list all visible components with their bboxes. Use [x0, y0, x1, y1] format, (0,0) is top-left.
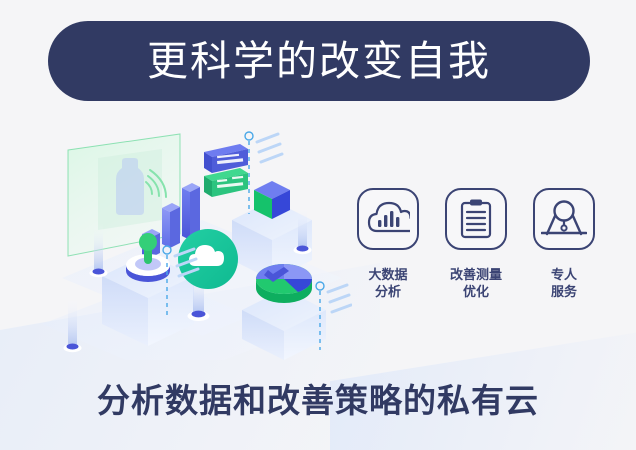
footer-headline: 分析数据和改善策略的私有云: [0, 383, 636, 419]
feature-list: 大数据 分析 改善测量 优化: [352, 188, 600, 300]
clipboard-icon: [445, 188, 507, 250]
headline-banner: 更科学的改变自我: [48, 21, 590, 101]
support-agent-icon: [533, 188, 595, 250]
feature-label-support: 专人 服务: [551, 266, 577, 300]
banner-title: 更科学的改变自我: [147, 41, 491, 82]
hero-illustration: [42, 128, 352, 360]
tag-green: [204, 168, 248, 197]
cloud-bar-chart-icon: [357, 188, 419, 250]
feature-label-measurement: 改善测量 优化: [450, 266, 502, 300]
feature-label-big-data: 大数据 分析: [368, 266, 407, 300]
feature-item-big-data[interactable]: 大数据 分析: [352, 188, 424, 300]
feature-label-line1: 改善测量: [450, 267, 502, 282]
feature-label-line2: 服务: [551, 284, 577, 299]
feature-label-line2: 优化: [463, 284, 489, 299]
feature-item-support[interactable]: 专人 服务: [528, 188, 600, 300]
feature-item-measurement[interactable]: 改善测量 优化: [440, 188, 512, 300]
pie-chart-3d: [256, 264, 312, 303]
feature-label-line1: 大数据: [368, 267, 407, 282]
feature-label-line1: 专人: [551, 267, 577, 282]
tag-blue: [204, 144, 248, 173]
promo-page: 更科学的改变自我: [0, 0, 636, 450]
feature-label-line2: 分析: [375, 284, 401, 299]
